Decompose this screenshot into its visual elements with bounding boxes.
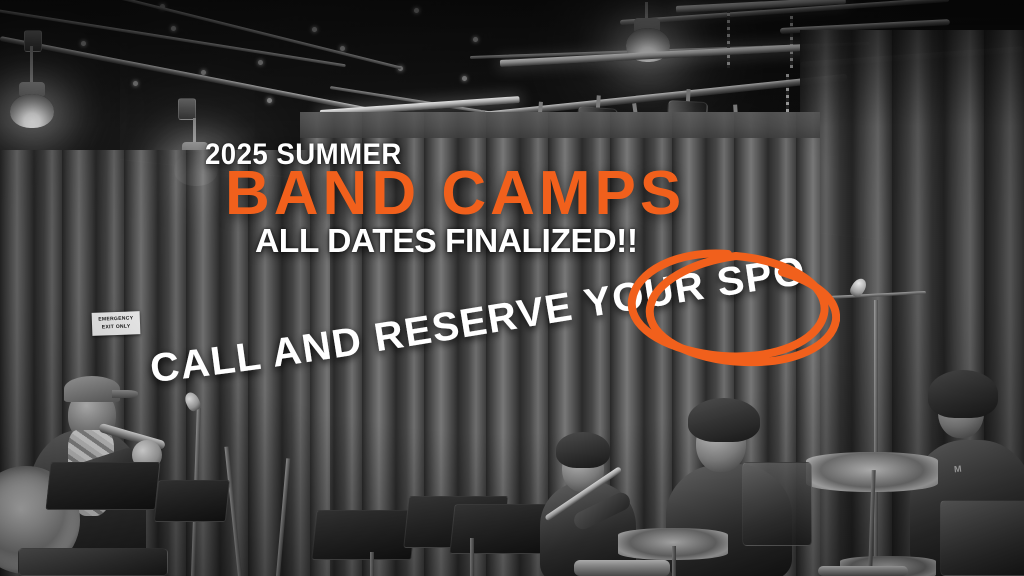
circle-loop-inner	[650, 256, 836, 362]
orange-circle-annotation	[610, 238, 840, 378]
cta-curved-text: CALL AND RESERVE YOUR SPOT!!	[0, 232, 1024, 402]
text-overlay: 2025 SUMMER BAND CAMPS ALL DATES FINALIZ…	[0, 0, 1024, 576]
poster-canvas: EMERGENCY EXIT ONLY	[0, 0, 1024, 576]
circle-loop-outer	[632, 254, 825, 357]
headline-text: BAND CAMPS	[225, 163, 685, 225]
